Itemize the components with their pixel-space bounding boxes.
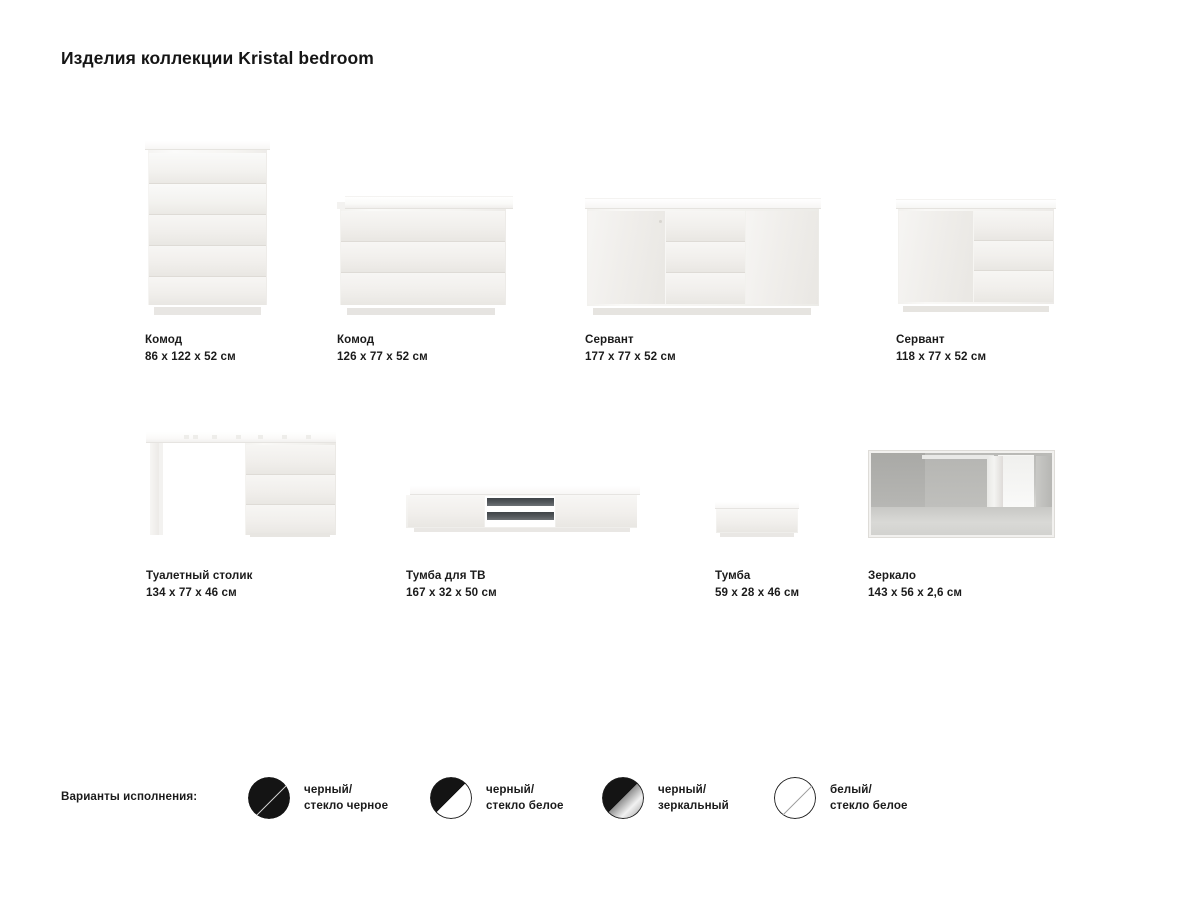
product-card-tv-unit: Тумба для ТВ 167 x 32 x 50 см <box>406 486 640 532</box>
variant-label-line1: белый/ <box>830 782 908 798</box>
variant-label-line2: стекло белое <box>486 798 564 814</box>
product-name: Сервант <box>585 331 676 348</box>
product-illustration-tall-chest <box>145 141 270 315</box>
product-dimensions: 118 x 77 x 52 см <box>896 348 986 365</box>
product-name: Тумба <box>715 567 799 584</box>
product-illustration-mirror <box>868 450 1055 538</box>
product-dimensions: 177 x 77 x 52 см <box>585 348 676 365</box>
variant-label-line2: стекло белое <box>830 798 908 814</box>
variant-label-line2: зеркальный <box>658 798 729 814</box>
variant-label: черный/ стекло черное <box>304 782 388 814</box>
swatch-black-mirror-icon <box>602 777 644 819</box>
product-card-servant-177: Сервант 177 x 77 x 52 см <box>585 198 821 315</box>
variant-label-line1: черный/ <box>304 782 388 798</box>
variants-legend-label: Варианты исполнения: <box>61 790 197 803</box>
variant-label: белый/ стекло белое <box>830 782 908 814</box>
product-illustration-small-cabinet <box>715 502 799 537</box>
variant-label: черный/ стекло белое <box>486 782 564 814</box>
product-illustration-wide-chest <box>337 196 513 315</box>
product-name: Зеркало <box>868 567 962 584</box>
product-card-komod-126: Комод 126 x 77 x 52 см <box>337 196 513 315</box>
product-card-mirror: Зеркало 143 x 56 x 2,6 см <box>868 450 1055 538</box>
product-caption: Комод 86 x 122 x 52 см <box>145 331 236 365</box>
product-caption: Сервант 118 x 77 x 52 см <box>896 331 986 365</box>
product-dimensions: 86 x 122 x 52 см <box>145 348 236 365</box>
product-caption: Зеркало 143 x 56 x 2,6 см <box>868 567 962 601</box>
catalog-page: Изделия коллекции Kristal bedroom Комод … <box>0 0 1200 900</box>
page-title: Изделия коллекции Kristal bedroom <box>61 48 374 69</box>
product-caption: Тумба для ТВ 167 x 32 x 50 см <box>406 567 497 601</box>
product-dimensions: 134 x 77 x 46 см <box>146 584 252 601</box>
product-dimensions: 126 x 77 x 52 см <box>337 348 428 365</box>
product-name: Тумба для ТВ <box>406 567 497 584</box>
product-caption: Туалетный столик 134 x 77 x 46 см <box>146 567 252 601</box>
product-illustration-tv-unit <box>406 486 640 532</box>
product-dimensions: 59 x 28 x 46 см <box>715 584 799 601</box>
product-dimensions: 143 x 56 x 2,6 см <box>868 584 962 601</box>
product-caption: Тумба 59 x 28 x 46 см <box>715 567 799 601</box>
variant-label: черный/ зеркальный <box>658 782 729 814</box>
product-caption: Сервант 177 x 77 x 52 см <box>585 331 676 365</box>
product-illustration-small-sideboard <box>896 199 1056 312</box>
variants-legend: Варианты исполнения: черный/ стекло черн… <box>61 768 1141 828</box>
variant-label-line1: черный/ <box>658 782 729 798</box>
swatch-black-white-icon <box>430 777 472 819</box>
variant-label-line1: черный/ <box>486 782 564 798</box>
product-illustration-large-sideboard <box>585 198 821 315</box>
product-name: Сервант <box>896 331 986 348</box>
swatch-black-black-icon <box>248 777 290 819</box>
mirror-reflection <box>871 453 1052 535</box>
product-card-small-cabinet: Тумба 59 x 28 x 46 см <box>715 502 799 537</box>
product-illustration-vanity-table <box>146 432 336 537</box>
variant-label-line2: стекло черное <box>304 798 388 814</box>
product-name: Комод <box>145 331 236 348</box>
product-dimensions: 167 x 32 x 50 см <box>406 584 497 601</box>
product-card-vanity: Туалетный столик 134 x 77 x 46 см <box>146 432 336 537</box>
product-caption: Комод 126 x 77 x 52 см <box>337 331 428 365</box>
product-card-komod-86: Комод 86 x 122 x 52 см <box>145 141 270 315</box>
product-name: Комод <box>337 331 428 348</box>
swatch-white-white-icon <box>774 777 816 819</box>
product-name: Туалетный столик <box>146 567 252 584</box>
product-card-servant-118: Сервант 118 x 77 x 52 см <box>896 199 1056 312</box>
